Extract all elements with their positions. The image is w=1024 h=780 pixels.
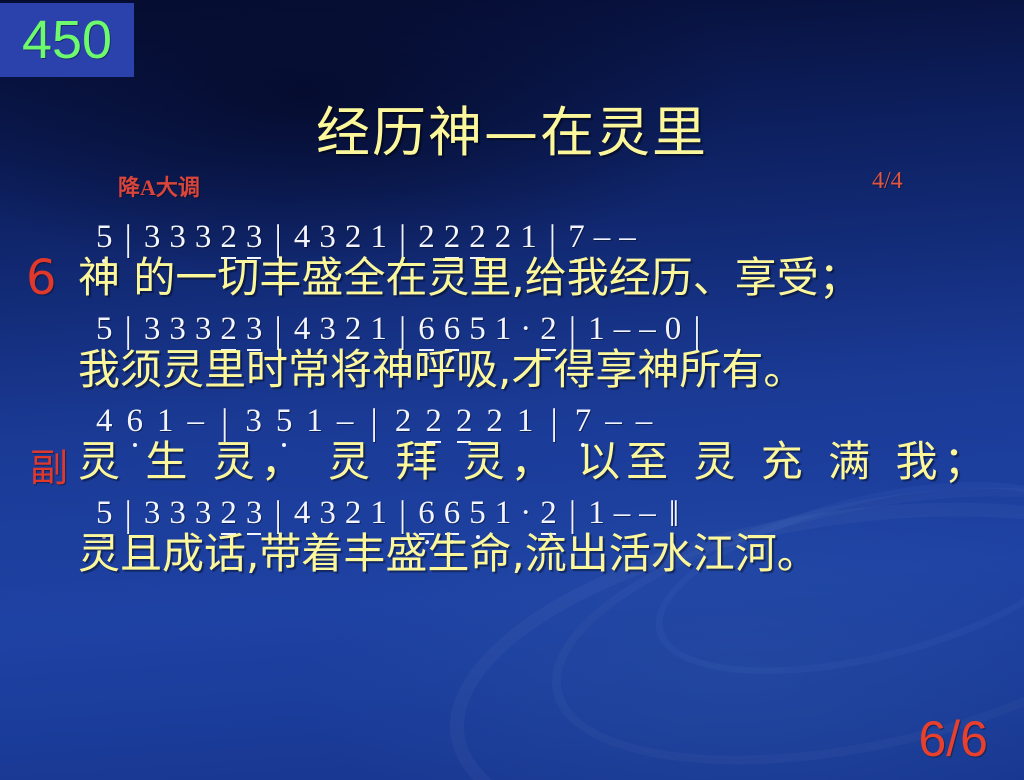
note-token: 1 xyxy=(588,494,605,532)
note-token: 3 xyxy=(195,494,212,532)
note-token: 1 xyxy=(520,218,537,256)
note-token: 3 xyxy=(144,310,161,348)
note-token: 1 xyxy=(370,218,387,256)
note-token: 5 xyxy=(469,494,486,532)
note-token: – xyxy=(614,494,631,532)
note-token: 6 xyxy=(444,310,461,348)
note-token: 2 xyxy=(220,494,237,532)
note-token: 4 xyxy=(294,494,311,532)
note-token: 2 xyxy=(220,310,237,348)
barline: | xyxy=(566,498,579,532)
lyric-row: 灵且成话,带着丰盛生命,流出活水江河。 xyxy=(0,528,1024,580)
note-token: 2 xyxy=(345,218,362,256)
barline: | xyxy=(367,406,380,440)
note-token: – xyxy=(337,402,354,440)
note-token: 3 xyxy=(169,310,186,348)
barline: | xyxy=(546,222,559,256)
music-system: 461–|351–|22221|7––灵 生 灵， 灵 拜 灵， 以至 灵 充 … xyxy=(0,396,1024,488)
lyric-row: 我须灵里时常将神呼吸,才得享神所有。 xyxy=(0,344,1024,396)
note-token: 2 xyxy=(495,218,512,256)
lyric-row: 神 的一切丰盛全在灵里,给我经历、享受； xyxy=(0,252,1024,304)
barline: | xyxy=(122,498,135,532)
barline: | xyxy=(690,314,703,348)
note-token: 2 xyxy=(345,494,362,532)
note-token: · xyxy=(520,310,531,348)
music-system: 5|33323|4321|22221|7––神 的一切丰盛全在灵里,给我经历、享… xyxy=(0,212,1024,304)
note-token: 1 xyxy=(495,494,512,532)
note-token: – xyxy=(619,218,636,256)
note-token: 3 xyxy=(144,218,161,256)
note-token: 2 xyxy=(395,402,412,440)
note-token: · xyxy=(520,494,531,532)
barline: | xyxy=(396,314,409,348)
music-system: 5|33323|4321|6651·2|1––‖灵且成话,带着丰盛生命,流出活水… xyxy=(0,488,1024,580)
note-token: 3 xyxy=(245,402,262,440)
note-token: 0 xyxy=(665,310,682,348)
barline: ‖ xyxy=(665,498,673,532)
note-token: 2 xyxy=(425,402,442,440)
music-staff: 5|33323|4321|22221|7––神 的一切丰盛全在灵里,给我经历、享… xyxy=(0,212,1024,580)
note-token: 3 xyxy=(195,218,212,256)
hymn-slide: 450 经历神—在灵里 降A大调 4/4 5|33323|4321|22221|… xyxy=(0,0,1024,780)
note-token: 2 xyxy=(444,218,461,256)
note-token: 2 xyxy=(418,218,435,256)
note-token: 1 xyxy=(495,310,512,348)
barline: | xyxy=(271,314,284,348)
note-token: – xyxy=(188,402,205,440)
note-token: 3 xyxy=(144,494,161,532)
barline: | xyxy=(566,314,579,348)
notation-row: 5|33323|4321|6651·2|1––‖ xyxy=(0,488,1024,532)
note-token: 3 xyxy=(169,494,186,532)
note-token: 1 xyxy=(370,494,387,532)
hymn-number-badge: 450 xyxy=(0,3,134,77)
note-token: 4 xyxy=(294,218,311,256)
note-token: 1 xyxy=(306,402,323,440)
note-token: 3 xyxy=(246,218,263,256)
note-token: 2 xyxy=(540,310,557,348)
note-token: 7 xyxy=(568,218,585,256)
note-token: 6 xyxy=(444,494,461,532)
note-token: 3 xyxy=(195,310,212,348)
note-token: 2 xyxy=(540,494,557,532)
note-token: 2 xyxy=(220,218,237,256)
chorus-marker: 副 xyxy=(30,442,68,494)
note-token: 5 xyxy=(96,494,113,532)
barline: | xyxy=(396,222,409,256)
note-token: 5 xyxy=(96,310,113,348)
hymn-number: 450 xyxy=(22,13,112,67)
note-token: 3 xyxy=(246,310,263,348)
note-token: 3 xyxy=(319,494,336,532)
barline: | xyxy=(218,406,231,440)
music-system: 5|33323|4321|6651·2|1––0|我须灵里时常将神呼吸,才得享神… xyxy=(0,304,1024,396)
note-token: 4 xyxy=(96,402,113,440)
note-token: – xyxy=(639,494,656,532)
note-token: 2 xyxy=(456,402,473,440)
note-token: 1 xyxy=(517,402,534,440)
note-token: 6 xyxy=(418,310,435,348)
note-token: 4 xyxy=(294,310,311,348)
note-token: – xyxy=(636,402,653,440)
barline: | xyxy=(396,498,409,532)
note-token: 5 xyxy=(469,310,486,348)
note-token: 6 xyxy=(418,494,435,532)
note-token: 1 xyxy=(370,310,387,348)
barline: | xyxy=(122,222,135,256)
note-token: – xyxy=(594,218,611,256)
note-token: 7 xyxy=(575,402,592,440)
note-token: 5 xyxy=(276,402,293,440)
note-token: – xyxy=(614,310,631,348)
note-token: 1 xyxy=(588,310,605,348)
note-token: 1 xyxy=(157,402,174,440)
notation-row: 5|33323|4321|22221|7–– xyxy=(0,212,1024,256)
note-token: 3 xyxy=(319,310,336,348)
key-signature-label: 降A大调 xyxy=(118,170,200,202)
note-token: 2 xyxy=(469,218,486,256)
barline: | xyxy=(271,498,284,532)
notation-row: 461–|351–|22221|7–– xyxy=(0,396,1024,440)
note-token: – xyxy=(639,310,656,348)
barline: | xyxy=(547,406,560,440)
page-indicator: 6/6 xyxy=(918,710,988,768)
page-title: 经历神—在灵里 xyxy=(0,88,1024,167)
note-token: 6 xyxy=(127,402,144,440)
note-token: 3 xyxy=(246,494,263,532)
note-token: 2 xyxy=(345,310,362,348)
verse-number: 6 xyxy=(26,252,57,304)
note-token: – xyxy=(605,402,622,440)
lyric-row: 灵 生 灵， 灵 拜 灵， 以至 灵 充 满 我； xyxy=(0,436,1024,488)
notation-row: 5|33323|4321|6651·2|1––0| xyxy=(0,304,1024,348)
time-signature-label: 4/4 xyxy=(872,168,903,195)
barline: | xyxy=(122,314,135,348)
note-token: 3 xyxy=(319,218,336,256)
note-token: 2 xyxy=(486,402,503,440)
note-token: 5 xyxy=(96,218,113,256)
note-token: 3 xyxy=(169,218,186,256)
barline: | xyxy=(271,222,284,256)
